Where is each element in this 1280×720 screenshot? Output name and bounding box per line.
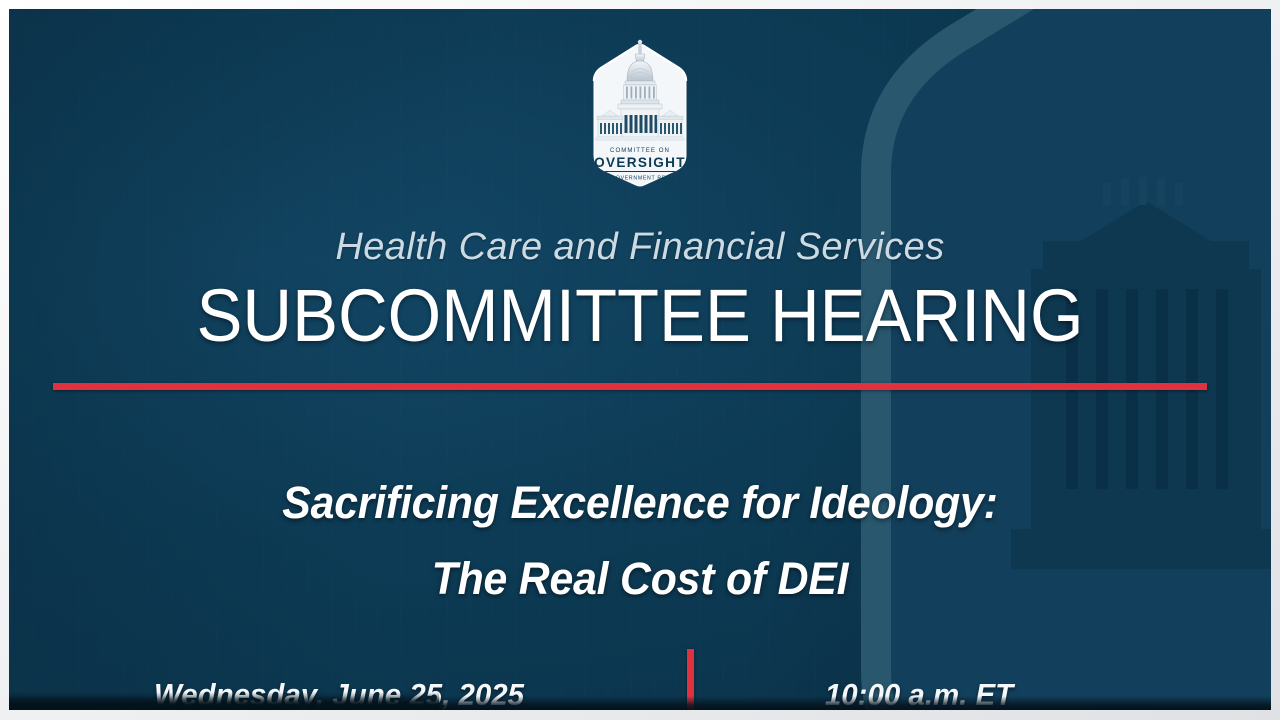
horizontal-red-rule	[53, 383, 1207, 390]
slide-frame: COMM OVE AND GOVE	[0, 0, 1280, 720]
seal-line-and-government-reform: AND GOVERNMENT REFORM	[596, 176, 684, 182]
hearing-title-line-1: Sacrificing Excellence for Ideology:	[41, 465, 1240, 541]
seal-line-committee-on: COMMITTEE ON	[610, 147, 670, 154]
hearing-title-line-2: The Real Cost of DEI	[41, 541, 1240, 617]
subcommittee-name: Health Care and Financial Services	[9, 228, 1271, 268]
hearing-title-slide: COMM OVE AND GOVE	[9, 9, 1271, 710]
seal-line-oversight: OVERSIGHT	[594, 155, 686, 170]
committee-seal-logo: COMMITTEE ON OVERSIGHT AND GOVERNMENT RE…	[576, 37, 704, 189]
bottom-shadow-band-left	[9, 692, 439, 710]
page-title: SUBCOMMITTEE HEARING	[53, 279, 1227, 353]
hearing-title: Sacrificing Excellence for Ideology: The…	[9, 465, 1271, 617]
